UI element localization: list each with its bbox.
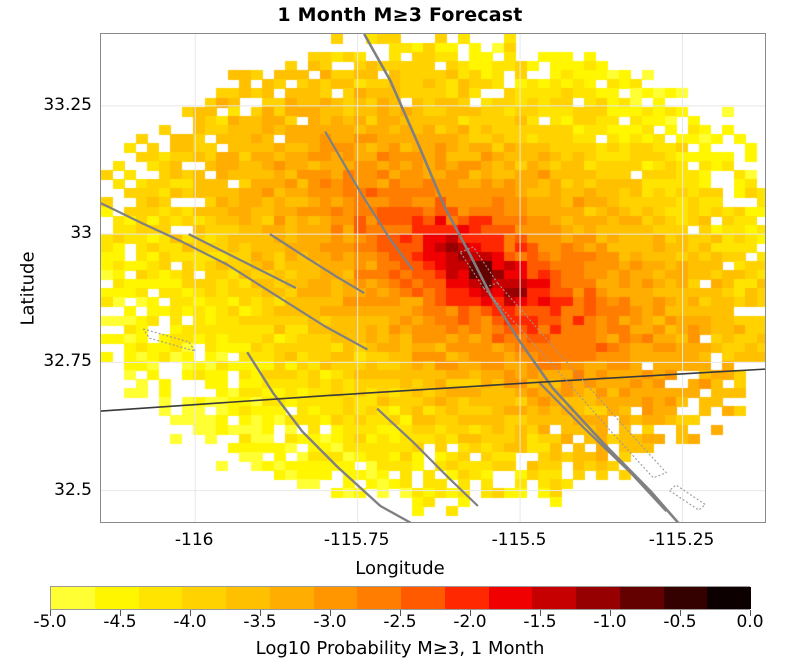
colorbar-segment-11 <box>532 587 576 609</box>
colorbar-segment-5 <box>270 587 314 609</box>
colorbar-segment-10 <box>489 587 533 609</box>
x-axis-ticklabels: -116-115.75-115.5-115.25 <box>0 530 800 554</box>
forecast-map-figure: 1 Month M≥3 Forecast 33.253332.7532.5 La… <box>0 0 800 671</box>
colorbar-segment-4 <box>226 587 270 609</box>
colorbar-segment-8 <box>401 587 445 609</box>
colorbar-segment-1 <box>95 587 139 609</box>
colorbar-segment-2 <box>139 587 183 609</box>
x-tick-1: -115.75 <box>297 530 417 550</box>
fault-and-border-overlay <box>101 34 766 523</box>
x-tick-0: -116 <box>134 530 254 550</box>
colorbar-segment-13 <box>620 587 664 609</box>
y-tick-3: 32.5 <box>4 480 92 500</box>
colorbar-ticklabels: -5.0-4.5-4.0-3.5-3.0-2.5-2.0-1.5-1.0-0.5… <box>50 612 750 634</box>
y-tick-0: 33.25 <box>4 95 92 115</box>
y-axis-label: Latitude <box>18 229 39 349</box>
colorbar-segment-14 <box>664 587 708 609</box>
page-title: 1 Month M≥3 Forecast <box>0 4 800 26</box>
colorbar-segment-12 <box>576 587 620 609</box>
colorbar-segment-9 <box>445 587 489 609</box>
colorbar-segment-6 <box>314 587 358 609</box>
colorbar[interactable] <box>50 586 750 610</box>
colorbar-segment-3 <box>182 587 226 609</box>
x-axis-label: Longitude <box>0 558 800 579</box>
colorbar-gradient <box>50 586 750 610</box>
x-tick-3: -115.25 <box>622 530 742 550</box>
colorbar-ticklabel-10: 0.0 <box>705 612 795 632</box>
x-tick-2: -115.5 <box>459 530 579 550</box>
colorbar-segment-15 <box>707 587 751 609</box>
map-plot-area[interactable] <box>100 33 766 523</box>
y-tick-2: 32.75 <box>4 351 92 371</box>
colorbar-segment-7 <box>357 587 401 609</box>
colorbar-segment-0 <box>51 587 95 609</box>
colorbar-label: Log10 Probability M≥3, 1 Month <box>0 638 800 659</box>
